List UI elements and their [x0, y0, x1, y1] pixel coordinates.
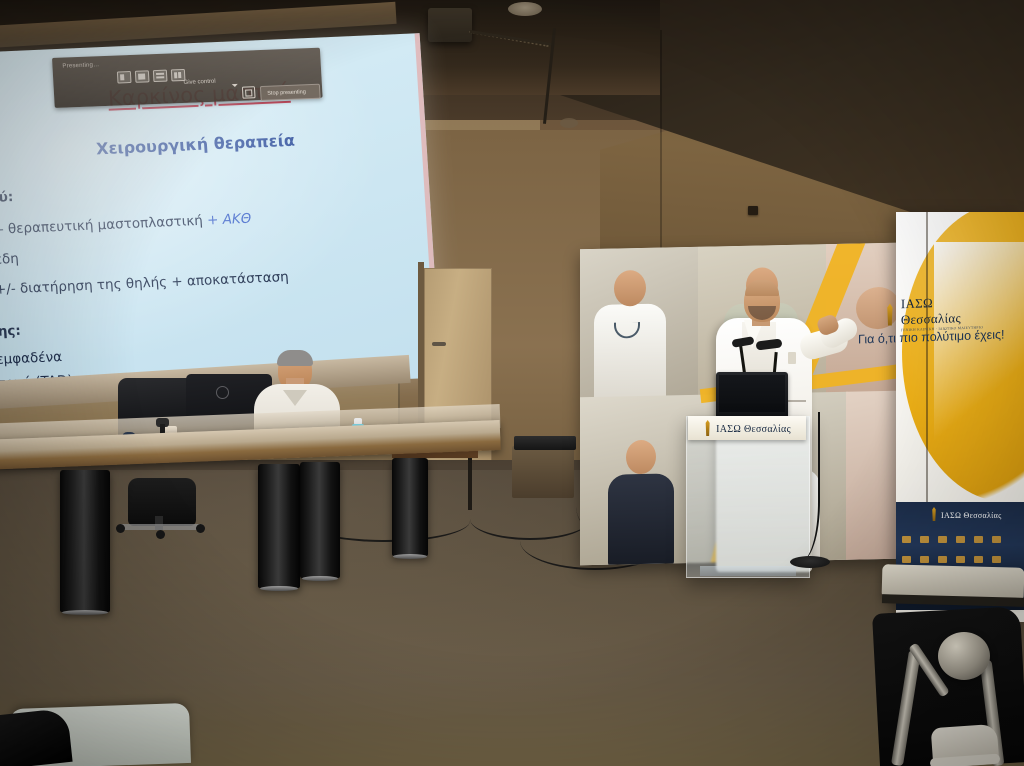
- ceiling-vent: [508, 2, 542, 16]
- iaso-logo-mark-icon: [884, 303, 896, 325]
- podium-base: [700, 566, 796, 576]
- layout-view-icon[interactable]: [135, 70, 150, 83]
- table-leg: [60, 470, 110, 612]
- person-silhouette: [608, 473, 674, 565]
- stop-share-icon[interactable]: [242, 86, 256, 98]
- microphone-cable: [770, 412, 820, 562]
- rollup-logo-text: ΙΑΣΩ Θεσσαλίας: [941, 506, 1002, 522]
- banner-photo: [846, 389, 896, 561]
- screen-share-toolbar[interactable]: Presenting… Give control Stop presenting: [52, 48, 323, 108]
- side-table-leg: [468, 458, 472, 510]
- chairperson-hair: [277, 350, 313, 366]
- slide-line-1: γική του μαστού:: [0, 189, 14, 211]
- rollup-white-highlight: [934, 242, 1024, 542]
- av-equipment: [514, 436, 576, 450]
- give-control-button[interactable]: Give control: [183, 79, 215, 86]
- foreground-dark-object: [0, 708, 73, 766]
- table-leg: [300, 462, 340, 578]
- banner-photo: [580, 247, 700, 400]
- banner-logo: ΙΑΣΩ Θεσσαλίας ΓΕΝΙΚΗ ΚΛΙΝΙΚΗ · ΙΔΙΩΤΙΚΟ…: [884, 298, 988, 328]
- speaker-badge: [788, 352, 796, 364]
- person-head: [626, 440, 656, 475]
- dell-logo-icon: [216, 386, 229, 399]
- chevron-down-icon[interactable]: [232, 84, 238, 87]
- stop-presenting-label: Stop presenting: [267, 89, 306, 96]
- microphone-stand-base: [790, 556, 830, 568]
- slide-line-3: κτομή: - απλή/επίπεδη: [0, 251, 19, 274]
- laptop-screen: [719, 375, 785, 412]
- chair-wheel: [196, 524, 205, 533]
- stop-presenting-button[interactable]: Stop presenting: [260, 84, 321, 101]
- conference-room-photo: Καρκίνος μαστού Χειρουργική θεραπεία γικ…: [0, 0, 1024, 766]
- slide-subtitle: Χειρουργική θεραπεία: [96, 131, 296, 159]
- table-leg: [258, 464, 300, 588]
- rollup-logo-main: ΙΑΣΩ Θεσσαλίας: [941, 511, 1002, 520]
- slide-line-6: /βιοψία φρουρού λεμφαδένα: [0, 349, 63, 373]
- wall-fixture: [748, 206, 758, 215]
- layout-view-icon[interactable]: [117, 71, 132, 84]
- chrome-sphere: [938, 632, 990, 680]
- doctor-silhouette: [594, 304, 666, 400]
- table-leg: [392, 458, 428, 556]
- banner-logo-main: ΙΑΣΩ Θεσσαλίας: [901, 295, 961, 327]
- rollup-banner: ΙΑΣΩ Θεσσαλίας: [896, 212, 1024, 622]
- rollup-logo: ΙΑΣΩ Θεσσαλίας: [930, 506, 1002, 522]
- slide-line-4: - υποδόρια +/- διατήρηση της θηλής + απο…: [0, 269, 289, 301]
- smoke-detector-icon: [560, 118, 578, 128]
- rollup-seam: [926, 212, 928, 512]
- iaso-logo-mark-icon: [930, 507, 938, 521]
- layout-view-icon[interactable]: [153, 70, 168, 83]
- iaso-logo-mark-icon: [703, 420, 712, 436]
- projector: [428, 8, 472, 42]
- banner-logo-text: ΙΑΣΩ Θεσσαλίας ΓΕΝΙΚΗ ΚΛΙΝΙΚΗ · ΙΔΙΩΤΙΚΟ…: [901, 293, 988, 333]
- doctor-head: [614, 270, 646, 307]
- slide-line-2: ητική: ογκεκτομή – θεραπευτική μαστοπλασ…: [0, 211, 252, 243]
- chair-wheel: [156, 530, 165, 539]
- slide-line-5: ική της μασχάλης:: [0, 323, 21, 345]
- chair-wheel: [116, 524, 125, 533]
- speaker-scalp: [745, 280, 779, 296]
- av-equipment-box: [512, 446, 574, 498]
- door-handle[interactable]: [432, 342, 446, 346]
